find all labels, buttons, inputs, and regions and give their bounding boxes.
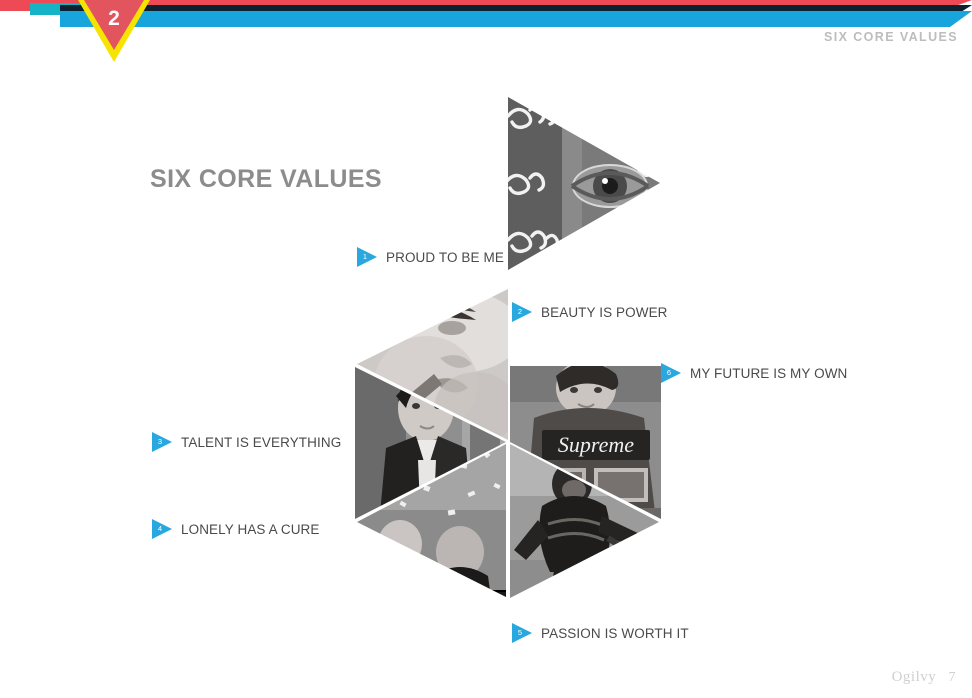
bullet-triangle-icon-6: 6 [661, 363, 681, 383]
bullet-number-2: 2 [514, 306, 526, 318]
bullet-number-5: 5 [514, 627, 526, 639]
value-triangle-1 [508, 97, 660, 270]
value-label-3[interactable]: 3 TALENT IS EVERYTHING [152, 432, 341, 452]
bullet-triangle-icon-4: 4 [152, 519, 172, 539]
value-text-3: TALENT IS EVERYTHING [181, 435, 341, 450]
footer-page-number: 7 [949, 670, 957, 685]
bullet-triangle-icon-5: 5 [512, 623, 532, 643]
bullet-triangle-icon-3: 3 [152, 432, 172, 452]
value-text-4: LONELY HAS A CURE [181, 522, 320, 537]
value-label-5[interactable]: 5 PASSION IS WORTH IT [512, 623, 689, 643]
value-text-6: MY FUTURE IS MY OWN [690, 366, 847, 381]
value-text-5: PASSION IS WORTH IT [541, 626, 689, 641]
value-label-2[interactable]: 2 BEAUTY IS POWER [512, 302, 668, 322]
value-text-1: PROUD TO BE ME [386, 250, 504, 265]
value-label-4[interactable]: 4 LONELY HAS A CURE [152, 519, 320, 539]
value-label-1[interactable]: 1 PROUD TO BE ME [357, 247, 504, 267]
bullet-number-4: 4 [154, 523, 166, 535]
footer-brand: Ogilvy [892, 669, 937, 685]
value-label-6[interactable]: 6 MY FUTURE IS MY OWN [661, 363, 847, 383]
footer: Ogilvy 7 [892, 669, 956, 686]
bullet-number-1: 1 [359, 251, 371, 263]
bullet-number-6: 6 [663, 367, 675, 379]
bullet-triangle-icon-1: 1 [357, 247, 377, 267]
bullet-number-3: 3 [154, 436, 166, 448]
bullet-triangle-icon-2: 2 [512, 302, 532, 322]
hexagon-svg: Supreme [0, 0, 972, 698]
hexagon-diagram: Supreme [0, 0, 972, 698]
slide-canvas: 2 SIX CORE VALUES SIX CORE VALUES [0, 0, 972, 698]
value-text-2: BEAUTY IS POWER [541, 305, 668, 320]
